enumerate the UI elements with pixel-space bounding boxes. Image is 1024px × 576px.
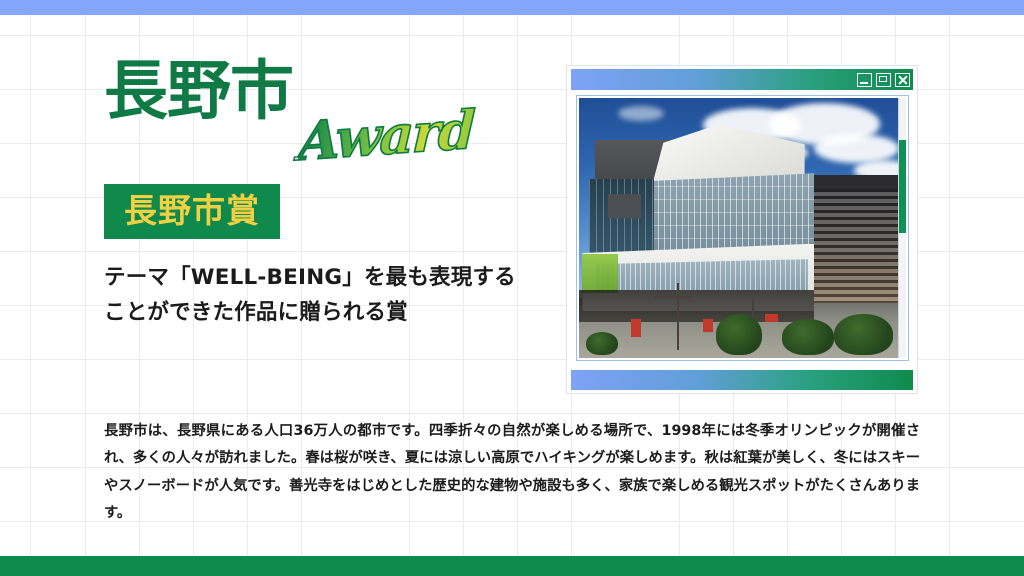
window-bottom-bar [571, 370, 913, 390]
top-accent-bar [0, 0, 1024, 15]
window-title-bar[interactable] [571, 69, 913, 90]
body-paragraph: 長野市は、長野県にある人口36万人の都市です。四季折々の自然が楽しめる場所で、1… [104, 418, 920, 528]
status-badge: 長野市賞 [104, 184, 280, 239]
close-icon[interactable] [895, 73, 910, 87]
theme-line-1: テーマ「WELL-BEING」を最も表現する [104, 261, 534, 296]
slide-canvas: 長野市 Award 長野市賞 テーマ「WELL-BEING」を最も表現する こと… [0, 0, 1024, 576]
page-title: 長野市 [104, 60, 293, 124]
theme-description: テーマ「WELL-BEING」を最も表現する ことができた作品に贈られる賞 [104, 261, 534, 331]
photo-scrollbar[interactable] [898, 98, 906, 358]
photo-scrollbar-thumb[interactable] [899, 140, 906, 234]
building-photo [579, 98, 906, 358]
award-script-wordmark: Award [298, 104, 475, 169]
left-content-column: 長野市 Award 長野市賞 テーマ「WELL-BEING」を最も表現する こと… [104, 58, 534, 331]
theme-line-2: ことができた作品に贈られる賞 [104, 296, 534, 331]
photo-window[interactable] [567, 66, 917, 393]
maximize-icon[interactable] [876, 73, 891, 87]
award-title-lockup: 長野市 Award [104, 58, 534, 178]
bottom-accent-bar [0, 556, 1024, 576]
minimize-icon[interactable] [857, 73, 872, 87]
window-content-area [576, 95, 909, 361]
